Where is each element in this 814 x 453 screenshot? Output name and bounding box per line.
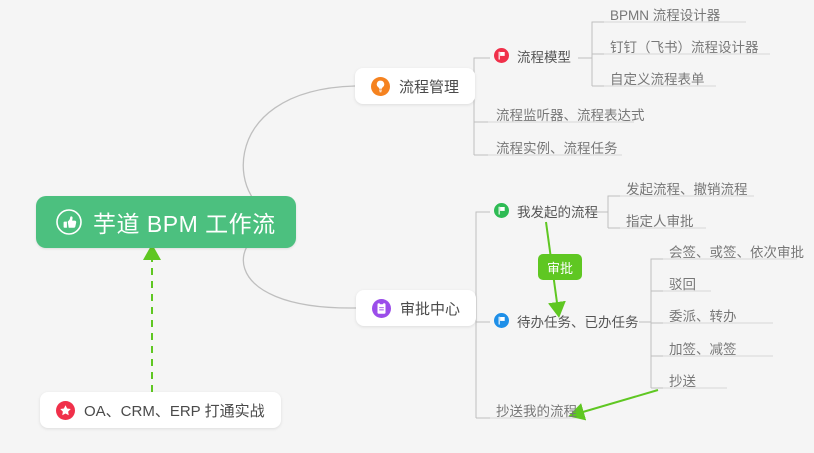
lightbulb-icon — [371, 77, 390, 96]
leaf-assignee-approval-label: 指定人审批 — [626, 210, 694, 230]
leaf-process-instance-label: 流程实例、流程任务 — [496, 137, 618, 157]
leaf-delegate-transfer[interactable]: 委派、转办 — [663, 307, 743, 328]
wire-todo-to-countersign — [651, 259, 663, 322]
leaf-add-remove-sign[interactable]: 加签、减签 — [663, 340, 743, 361]
leaf-cc-to-me[interactable]: 抄送我的流程 — [490, 402, 583, 423]
leaf-dingtalk-designer[interactable]: 钉钉（飞书）流程设计器 — [604, 38, 765, 59]
leaf-process-instance[interactable]: 流程实例、流程任务 — [490, 139, 624, 160]
flag-green-icon — [494, 203, 509, 218]
wire-ac-to-initiated — [476, 212, 490, 308]
branch-process-management-label: 流程管理 — [399, 76, 459, 97]
node-my-initiated-process-label: 我发起的流程 — [517, 201, 598, 221]
side-note-label: OA、CRM、ERP 打通实战 — [84, 400, 265, 421]
approval-tag-label: 审批 — [547, 258, 573, 277]
thumbs-up-icon — [56, 209, 82, 235]
star-icon — [56, 401, 75, 420]
arrow-cc-to-ccme — [576, 390, 658, 414]
approval-tag-badge[interactable]: 审批 — [538, 254, 582, 280]
leaf-countersign[interactable]: 会签、或签、依次审批 — [663, 243, 810, 264]
leaf-cc-to-me-label: 抄送我的流程 — [496, 400, 577, 420]
wire-model-trunk — [578, 58, 592, 86]
leaf-add-remove-sign-label: 加签、减签 — [669, 338, 737, 358]
root-node[interactable]: 芋道 BPM 工作流 — [36, 196, 296, 248]
leaf-carbon-copy-label: 抄送 — [669, 370, 696, 390]
branch-approval-center-label: 审批中心 — [400, 298, 460, 319]
flag-blue-icon — [494, 313, 509, 328]
wire-initiated-to-start — [608, 196, 620, 212]
branch-approval-center[interactable]: 审批中心 — [356, 290, 476, 326]
side-note-card[interactable]: OA、CRM、ERP 打通实战 — [40, 392, 281, 428]
leaf-carbon-copy[interactable]: 抄送 — [663, 372, 702, 393]
mindmap-canvas: 芋道 BPM 工作流 OA、CRM、ERP 打通实战 流程管理 — [0, 0, 814, 453]
leaf-bpmn-designer-label: BPMN 流程设计器 — [610, 4, 720, 24]
clipboard-icon — [372, 299, 391, 318]
node-process-model-label: 流程模型 — [517, 46, 571, 66]
leaf-reject-label: 驳回 — [669, 273, 696, 293]
flag-red-icon — [494, 48, 509, 63]
node-todo-done-tasks[interactable]: 待办任务、已办任务 — [492, 309, 645, 335]
leaf-bpmn-designer[interactable]: BPMN 流程设计器 — [604, 6, 726, 27]
leaf-process-listener[interactable]: 流程监听器、流程表达式 — [490, 106, 651, 127]
node-my-initiated-process[interactable]: 我发起的流程 — [492, 199, 604, 225]
leaf-custom-form-label: 自定义流程表单 — [610, 68, 705, 88]
leaf-delegate-transfer-label: 委派、转办 — [669, 305, 737, 325]
leaf-assignee-approval[interactable]: 指定人审批 — [620, 212, 700, 233]
leaf-countersign-label: 会签、或签、依次审批 — [669, 241, 804, 261]
leaf-start-cancel-process-label: 发起流程、撤销流程 — [626, 178, 748, 198]
node-todo-done-tasks-label: 待办任务、已办任务 — [517, 311, 639, 331]
wire-model-to-bpmn — [592, 22, 604, 58]
leaf-custom-form[interactable]: 自定义流程表单 — [604, 70, 711, 91]
root-label: 芋道 BPM 工作流 — [93, 205, 276, 239]
node-process-model[interactable]: 流程模型 — [492, 44, 577, 70]
leaf-process-listener-label: 流程监听器、流程表达式 — [496, 104, 645, 124]
leaf-start-cancel-process[interactable]: 发起流程、撤销流程 — [620, 180, 754, 201]
wire-pm-to-process-model — [474, 58, 490, 86]
leaf-reject[interactable]: 驳回 — [663, 275, 702, 296]
branch-process-management[interactable]: 流程管理 — [355, 68, 475, 104]
leaf-dingtalk-designer-label: 钉钉（飞书）流程设计器 — [610, 36, 759, 56]
